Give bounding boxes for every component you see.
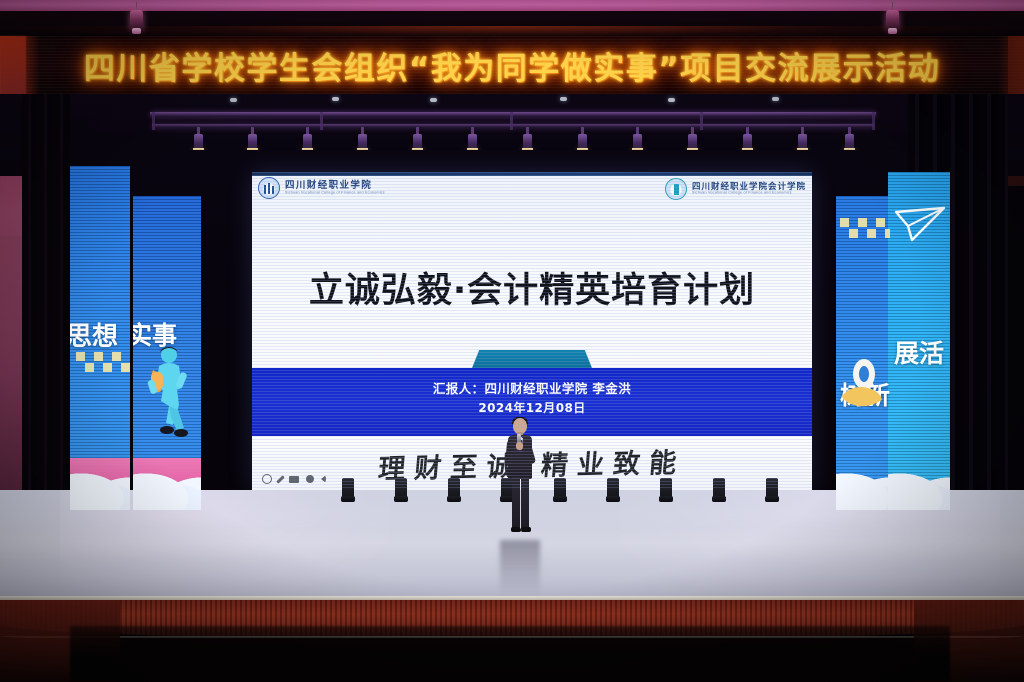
- light-lens: [132, 28, 141, 34]
- running-student-illustration: [145, 344, 191, 440]
- pillar-cloud-art: [133, 446, 201, 510]
- house-foreground-shadow: [70, 626, 950, 682]
- presenter-hand: [516, 442, 523, 450]
- presenter-left-leg: [512, 477, 520, 529]
- event-title-banner: 四川省学校学生会组织“我为同学做实事”项目交流展示活动: [0, 36, 1024, 94]
- ceiling-spot: [430, 98, 437, 102]
- left-led-pillar-1: 思想: [70, 166, 130, 510]
- slide-presenter-line: 汇报人：四川财经职业学院 李金洪: [252, 378, 812, 397]
- truss-post: [872, 112, 875, 130]
- logo-left-name-cn: 四川财经职业学院: [285, 181, 385, 191]
- presenter-right-leg: [521, 477, 529, 529]
- truss-post: [510, 112, 513, 130]
- floor-monitor: [341, 478, 355, 502]
- left-led-pillar-2: 实事: [133, 196, 201, 510]
- checker-pattern: [840, 218, 890, 239]
- light-lens: [888, 28, 897, 34]
- logo-left-name-en: Sichuan Vocational College of Finance an…: [285, 191, 385, 195]
- slide-date: 2024年12月08日: [252, 399, 812, 416]
- prev-icon[interactable]: [321, 475, 326, 483]
- hanging-stage-light: [886, 2, 899, 36]
- presenter-right-shoe: [521, 527, 531, 532]
- truss-bar: [152, 124, 874, 128]
- pillar-cloud-art: [888, 446, 950, 510]
- pillar-text-left-1: 思想: [70, 316, 118, 353]
- stage-presentation-photo: 四川省学校学生会组织“我为同学做实事”项目交流展示活动: [0, 0, 1024, 682]
- pillar-text-right-2: 展活: [894, 334, 944, 370]
- presenter-left-shoe: [511, 527, 521, 532]
- truss-post: [700, 112, 703, 130]
- more-icon[interactable]: [306, 475, 314, 483]
- college-emblem-icon: [258, 177, 280, 199]
- right-led-pillar-2: 展活: [888, 172, 950, 510]
- presenter-toolbar[interactable]: [262, 474, 326, 484]
- right-led-pillar-1: 树新: [836, 196, 890, 510]
- accounting-school-emblem-icon: [665, 178, 687, 200]
- truss-post: [320, 112, 323, 130]
- floor-monitor: [606, 478, 620, 502]
- floor-monitor: [553, 478, 567, 502]
- floor-monitor: [659, 478, 673, 502]
- paper-plane-icon: [894, 206, 948, 246]
- ceiling-spot: [772, 97, 779, 101]
- ceiling-spot: [668, 98, 675, 102]
- slides-icon[interactable]: [289, 476, 299, 483]
- slide-accent-trapezoid: [472, 350, 592, 368]
- floor-monitor: [447, 478, 461, 502]
- light-body: [886, 10, 899, 30]
- ceiling-spot: [332, 97, 339, 101]
- slide-top-bar: [252, 172, 812, 176]
- truss-post: [152, 112, 155, 130]
- pillar-cloud-art: [836, 446, 890, 510]
- checker-pattern: [76, 352, 130, 373]
- logo-right-name-en: Sichuan Vocational College of Finance an…: [692, 191, 806, 195]
- presenter-floor-reflection: [500, 540, 540, 596]
- ceiling-spot: [560, 97, 567, 101]
- hanging-stage-light: [130, 2, 143, 36]
- slide-main-title: 立诚弘毅·会计精英培育计划: [252, 262, 812, 313]
- pillar-cloud-art: [70, 446, 130, 510]
- light-body: [130, 10, 143, 30]
- event-title-text: 四川省学校学生会组织“我为同学做实事”项目交流展示活动: [84, 43, 940, 88]
- floor-monitor: [765, 478, 779, 502]
- ceiling-spot: [230, 98, 237, 102]
- logo-right: 四川财经职业学院会计学院 Sichuan Vocational College …: [665, 178, 806, 200]
- floor-monitor: [394, 478, 408, 502]
- logo-left: 四川财经职业学院 Sichuan Vocational College of F…: [258, 177, 385, 199]
- hand-illustration: [840, 358, 886, 414]
- truss-bar: [150, 112, 876, 117]
- pen-icon[interactable]: [276, 475, 284, 483]
- presenter-figure: [500, 418, 540, 540]
- floor-monitor: [712, 478, 726, 502]
- slide-logo-row: 四川财经职业学院 Sichuan Vocational College of F…: [252, 177, 812, 203]
- pointer-icon[interactable]: [262, 474, 272, 484]
